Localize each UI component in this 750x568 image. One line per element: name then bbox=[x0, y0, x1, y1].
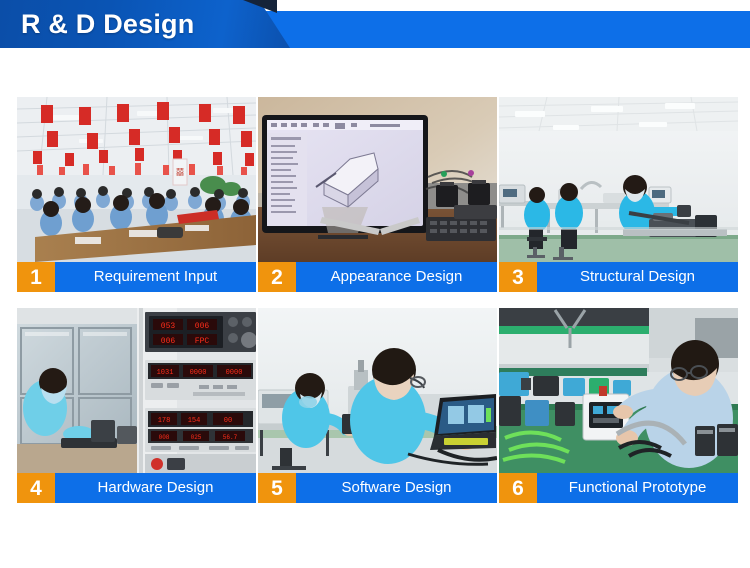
step-number-badge-1: 1 bbox=[17, 262, 55, 292]
process-step-card-5[interactable]: 5 Software Design bbox=[258, 308, 497, 503]
step-label-bar-6: 6 Functional Prototype bbox=[499, 473, 738, 503]
step-label-4: Hardware Design bbox=[55, 473, 256, 503]
step-label-bar-2: 2 Appearance Design bbox=[258, 262, 497, 292]
svg-text:006: 006 bbox=[161, 337, 176, 346]
step-label-1: Requirement Input bbox=[55, 262, 256, 292]
step-label-3: Structural Design bbox=[537, 262, 738, 292]
svg-text:154: 154 bbox=[188, 417, 201, 425]
step-label-bar-3: 3 Structural Design bbox=[499, 262, 738, 292]
process-step-grid: 囍 bbox=[17, 97, 739, 519]
svg-text:囍: 囍 bbox=[176, 167, 184, 177]
svg-text:006: 006 bbox=[195, 322, 210, 331]
page-title: R & D Design bbox=[21, 4, 194, 44]
step-label-2: Appearance Design bbox=[296, 262, 497, 292]
photo-lab-technicians-at-benches bbox=[499, 97, 738, 262]
svg-text:0000: 0000 bbox=[226, 369, 243, 377]
process-step-row-2: 053 006 006 FPC bbox=[17, 308, 739, 503]
step-number-badge-4: 4 bbox=[17, 473, 55, 503]
svg-text:008: 008 bbox=[159, 434, 170, 441]
step-number-badge-6: 6 bbox=[499, 473, 537, 503]
step-label-bar-5: 5 Software Design bbox=[258, 473, 497, 503]
photo-test-equipment-rack-with-led-displays: 053 006 006 FPC bbox=[17, 308, 256, 473]
step-number-badge-2: 2 bbox=[258, 262, 296, 292]
step-label-bar-1: 1 Requirement Input bbox=[17, 262, 256, 292]
svg-text:1031: 1031 bbox=[157, 369, 174, 377]
svg-text:56.7: 56.7 bbox=[223, 434, 238, 441]
process-step-card-2[interactable]: 2 Appearance Design bbox=[258, 97, 497, 292]
photo-engineer-assembling-prototype bbox=[499, 308, 738, 473]
photo-meeting-room-with-red-banners: 囍 bbox=[17, 97, 256, 262]
process-step-card-1[interactable]: 囍 bbox=[17, 97, 256, 292]
photo-cad-monitor-on-desk bbox=[258, 97, 497, 262]
photo-engineers-with-laptop bbox=[258, 308, 497, 473]
svg-text:0000: 0000 bbox=[190, 369, 207, 377]
step-label-6: Functional Prototype bbox=[537, 473, 738, 503]
process-step-card-6[interactable]: 6 Functional Prototype bbox=[499, 308, 738, 503]
step-label-5: Software Design bbox=[296, 473, 497, 503]
svg-text:025: 025 bbox=[191, 434, 202, 441]
svg-text:178: 178 bbox=[158, 417, 171, 425]
step-number-badge-5: 5 bbox=[258, 473, 296, 503]
step-label-bar-4: 4 Hardware Design bbox=[17, 473, 256, 503]
svg-text:FPC: FPC bbox=[195, 337, 210, 346]
process-step-row-1: 囍 bbox=[17, 97, 739, 292]
page-header-banner: R & D Design bbox=[0, 0, 750, 48]
svg-text:00: 00 bbox=[224, 417, 232, 425]
svg-text:053: 053 bbox=[161, 322, 176, 331]
process-step-card-4[interactable]: 053 006 006 FPC bbox=[17, 308, 256, 503]
process-step-card-3[interactable]: 3 Structural Design bbox=[499, 97, 738, 292]
step-number-badge-3: 3 bbox=[499, 262, 537, 292]
